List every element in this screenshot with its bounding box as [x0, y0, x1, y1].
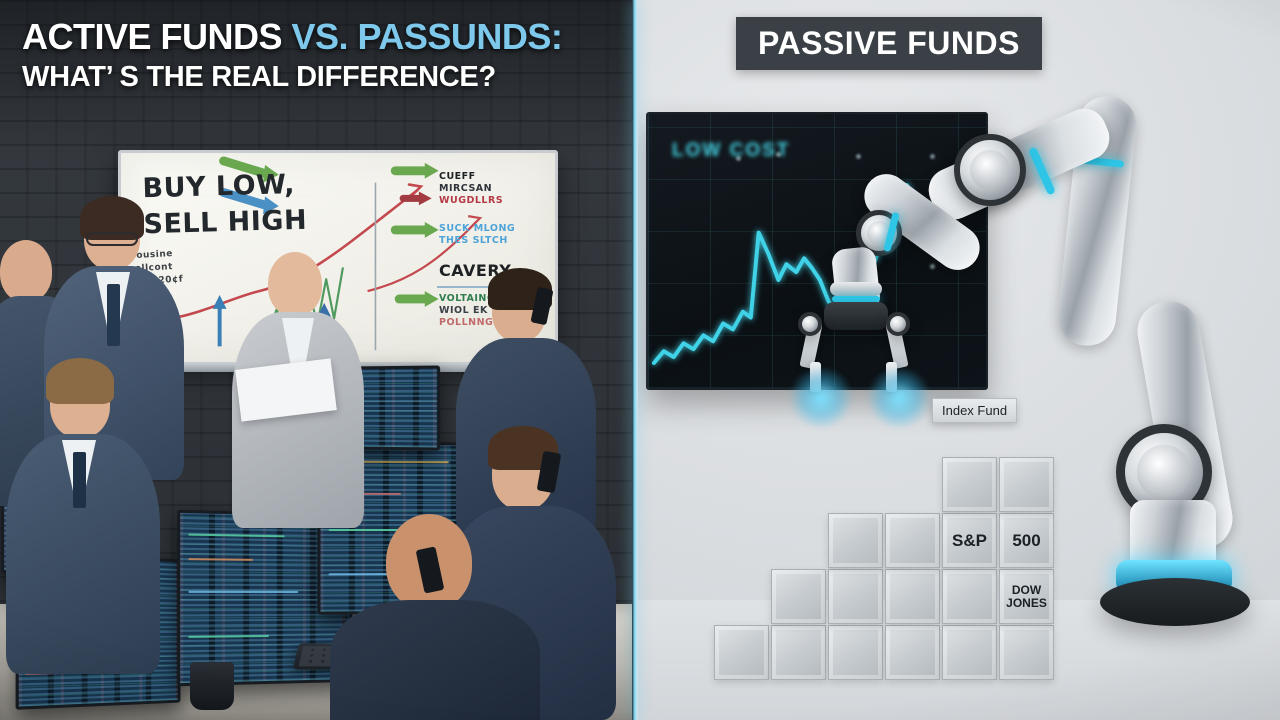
whiteboard-note-2: MIRCSAN: [439, 183, 492, 195]
panel-divider: [632, 0, 638, 720]
block: [942, 569, 997, 624]
active-funds-panel: BUY LOW, SELL HIGH Housine sollcont hdgf…: [0, 0, 634, 720]
title-vs-passive: VS. PASSUNDS:: [292, 16, 563, 57]
title-active-funds: ACTIVE FUNDS: [22, 16, 292, 57]
whiteboard-note-3: WUGDLLRS: [439, 195, 503, 207]
block: [942, 625, 997, 680]
block: [885, 625, 940, 680]
block: [828, 513, 883, 568]
block: [771, 625, 826, 680]
block-500: 500: [999, 513, 1054, 568]
whiteboard-note-8: WIOL EK: [439, 305, 488, 317]
block: [885, 513, 940, 568]
block: [999, 457, 1054, 512]
passive-funds-panel: LOW COST: [638, 0, 1280, 720]
block: [999, 625, 1054, 680]
block: [828, 569, 883, 624]
split-comparison-graphic: BUY LOW, SELL HIGH Housine sollcont hdgf…: [0, 0, 1280, 720]
whiteboard-note-7: VOLTAING: [439, 293, 495, 305]
block: [942, 457, 997, 512]
whiteboard-note-4: SUCK MLONG: [439, 223, 515, 235]
whiteboard-headline: BUY LOW, SELL HIGH: [142, 167, 308, 244]
block: [885, 569, 940, 624]
index-fund-chip: Index Fund: [932, 398, 1017, 423]
block: [714, 625, 769, 680]
block: [771, 569, 826, 624]
passive-funds-banner: PASSIVE FUNDS: [736, 17, 1042, 70]
page-title-line1: ACTIVE FUNDS VS. PASSUNDS:: [22, 16, 634, 58]
left-title-block: ACTIVE FUNDS VS. PASSUNDS: WHAT’ S THE R…: [0, 0, 634, 94]
whiteboard-note-5: THES SLTCH: [439, 235, 508, 247]
whiteboard-note-1: CUEFF: [439, 171, 476, 183]
block-dow-jones: DOW JONES: [999, 569, 1054, 624]
block: [828, 625, 883, 680]
block-sp: S&P: [942, 513, 997, 568]
coffee-mug: [190, 662, 234, 710]
whiteboard-note-9: POLLNNG: [439, 317, 493, 329]
page-title-line2: WHAT’ S THE REAL DIFFERENCE?: [22, 60, 634, 94]
